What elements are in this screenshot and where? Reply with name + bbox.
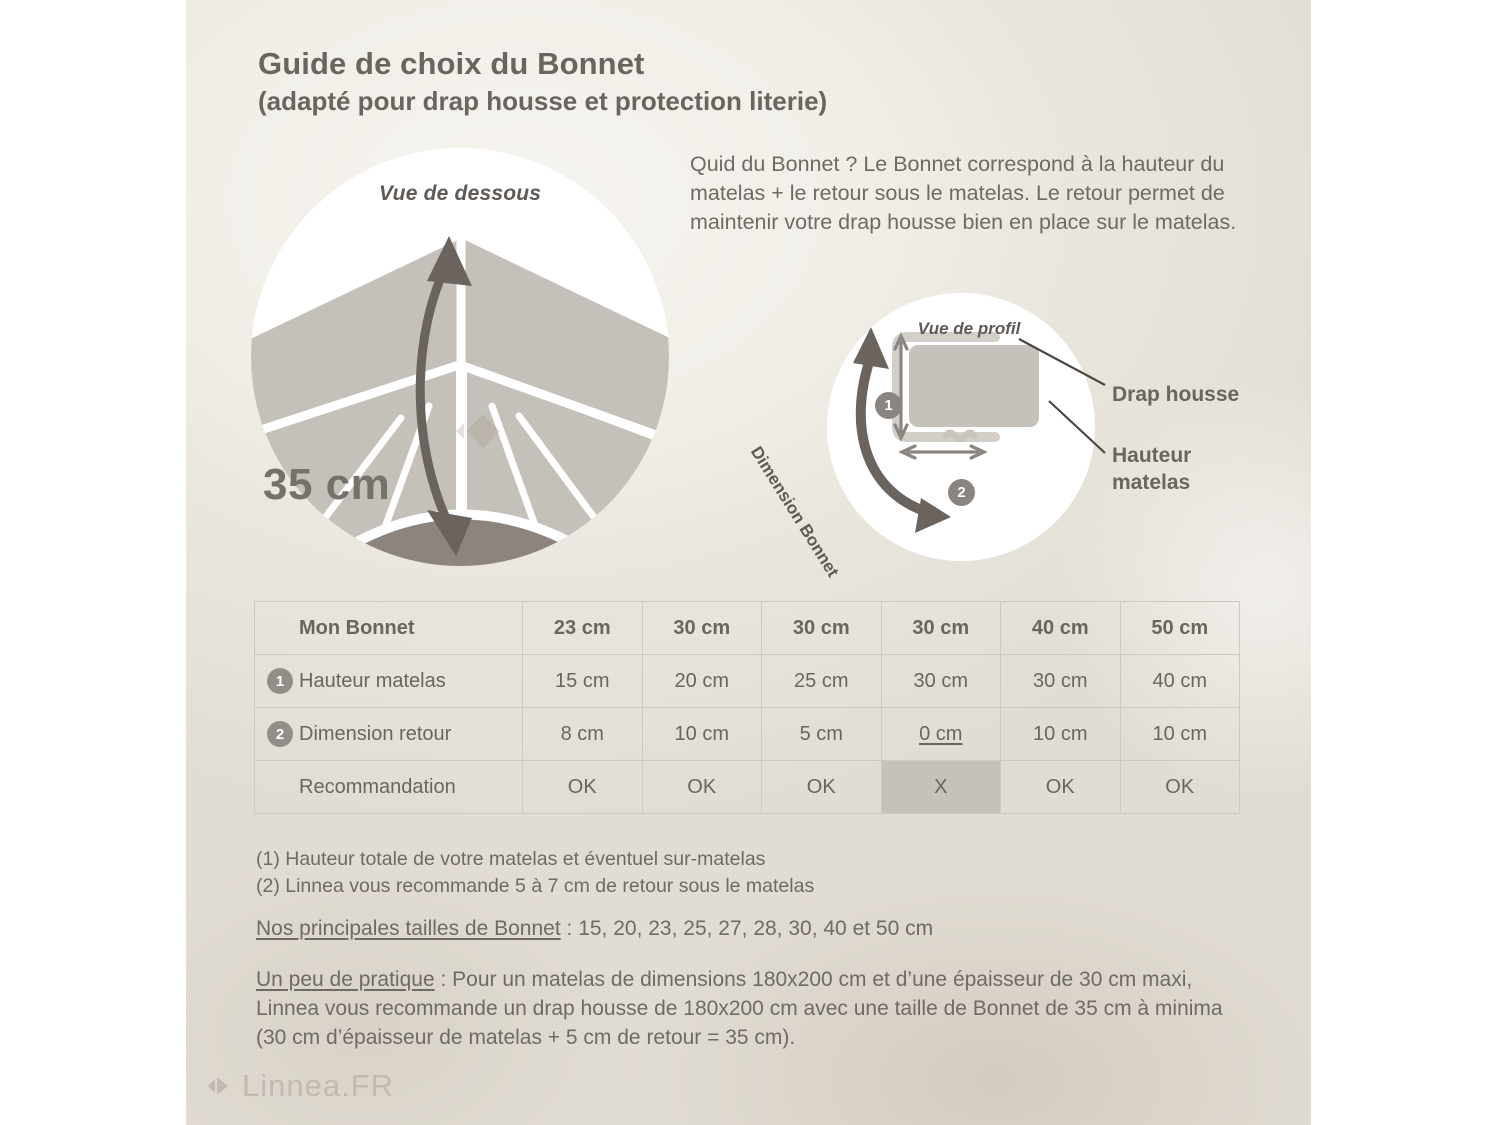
- title-line-2: (adapté pour drap housse et protection l…: [258, 85, 1058, 118]
- footnotes: (1) Hauteur totale de votre matelas et é…: [256, 846, 814, 900]
- title-line-1: Guide de choix du Bonnet: [258, 46, 1058, 83]
- table-cell: OK: [642, 761, 762, 814]
- table-cell: 0 cm: [881, 708, 1001, 761]
- table-cell: 10 cm: [1001, 708, 1121, 761]
- table-cell: OK: [523, 761, 643, 814]
- table-row: Mon Bonnet23 cm30 cm30 cm30 cm40 cm50 cm: [255, 602, 1240, 655]
- table-cell: 40 cm: [1001, 602, 1121, 655]
- poster-root: Guide de choix du Bonnet (adapté pour dr…: [0, 0, 1500, 1125]
- row-badge-2: 2: [267, 721, 293, 747]
- table-cell: 30 cm: [762, 602, 882, 655]
- table-row: 2Dimension retour8 cm10 cm5 cm0 cm10 cm1…: [255, 708, 1240, 761]
- table-cell: 23 cm: [523, 602, 643, 655]
- return-dimension-arrow-icon: [902, 446, 984, 458]
- table-cell: 15 cm: [523, 655, 643, 708]
- available-sizes-line: Nos principales tailles de Bonnet : 15, …: [256, 917, 933, 941]
- table-row-label: Mon Bonnet: [255, 602, 523, 655]
- brand-logo[interactable]: Linnea.FR: [206, 1068, 394, 1104]
- table-cell: 30 cm: [642, 602, 762, 655]
- table-cell: 30 cm: [881, 655, 1001, 708]
- footnote-2: (2) Linnea vous recommande 5 à 7 cm de r…: [256, 873, 814, 900]
- table-cell: 10 cm: [1120, 708, 1240, 761]
- row-badge-1: 1: [267, 668, 293, 694]
- table-cell: 30 cm: [881, 602, 1001, 655]
- table-row-label: 1Hauteur matelas: [255, 655, 523, 708]
- table-cell: 30 cm: [1001, 655, 1121, 708]
- row-label-text: Recommandation: [299, 776, 456, 798]
- table-cell-highlighted: X: [881, 761, 1001, 814]
- practical-heading: Un peu de pratique: [256, 968, 435, 991]
- table-row-label: 2Dimension retour: [255, 708, 523, 761]
- table-cell: 50 cm: [1120, 602, 1240, 655]
- label-drap-housse: Drap housse: [1112, 383, 1239, 407]
- table-cell: OK: [762, 761, 882, 814]
- footnote-1: (1) Hauteur totale de votre matelas et é…: [256, 846, 814, 873]
- available-sizes-heading: Nos principales tailles de Bonnet: [256, 917, 561, 940]
- bonnet-size-table: Mon Bonnet23 cm30 cm30 cm30 cm40 cm50 cm…: [254, 601, 1240, 814]
- table-row-label: Recommandation: [255, 761, 523, 814]
- label-hauteur-line2: matelas: [1112, 469, 1191, 496]
- bonnet-measure-label: 35 cm: [263, 460, 390, 510]
- linnea-diamond-icon: [206, 1073, 232, 1099]
- table-cell: OK: [1001, 761, 1121, 814]
- row-label-text: Mon Bonnet: [299, 617, 415, 639]
- table-cell: 10 cm: [642, 708, 762, 761]
- badge-2: 2: [948, 479, 975, 506]
- profile-view-label: Vue de profil: [879, 319, 1059, 339]
- table-row: 1Hauteur matelas15 cm20 cm25 cm30 cm30 c…: [255, 655, 1240, 708]
- table-cell: 5 cm: [762, 708, 882, 761]
- table-cell: 20 cm: [642, 655, 762, 708]
- bottom-view-label: Vue de dessous: [251, 182, 669, 206]
- label-hauteur-line1: Hauteur: [1112, 442, 1191, 469]
- diagram-bottom-view: Vue de dessous 35 cm: [251, 148, 669, 566]
- table-cell: 8 cm: [523, 708, 643, 761]
- table-cell: 25 cm: [762, 655, 882, 708]
- badge-1: 1: [875, 392, 902, 419]
- available-sizes-values: : 15, 20, 23, 25, 27, 28, 30, 40 et 50 c…: [561, 917, 933, 940]
- table-row: RecommandationOKOKOKXOKOK: [255, 761, 1240, 814]
- logo-text: Linnea.FR: [242, 1068, 394, 1104]
- intro-paragraph: Quid du Bonnet ? Le Bonnet correspond à …: [690, 150, 1270, 237]
- table-cell: OK: [1120, 761, 1240, 814]
- row-label-text: Hauteur matelas: [299, 670, 446, 692]
- diagram-profile-view: Vue de profil Dimension Bonnet 1 2: [827, 293, 1095, 561]
- practical-example: Un peu de pratique : Pour un matelas de …: [256, 965, 1256, 1052]
- label-hauteur-matelas: Hauteur matelas: [1112, 442, 1191, 496]
- table-cell: 40 cm: [1120, 655, 1240, 708]
- row-label-text: Dimension retour: [299, 723, 451, 745]
- page-title: Guide de choix du Bonnet (adapté pour dr…: [258, 46, 1058, 117]
- table-cell-underlined-value: 0 cm: [919, 723, 962, 745]
